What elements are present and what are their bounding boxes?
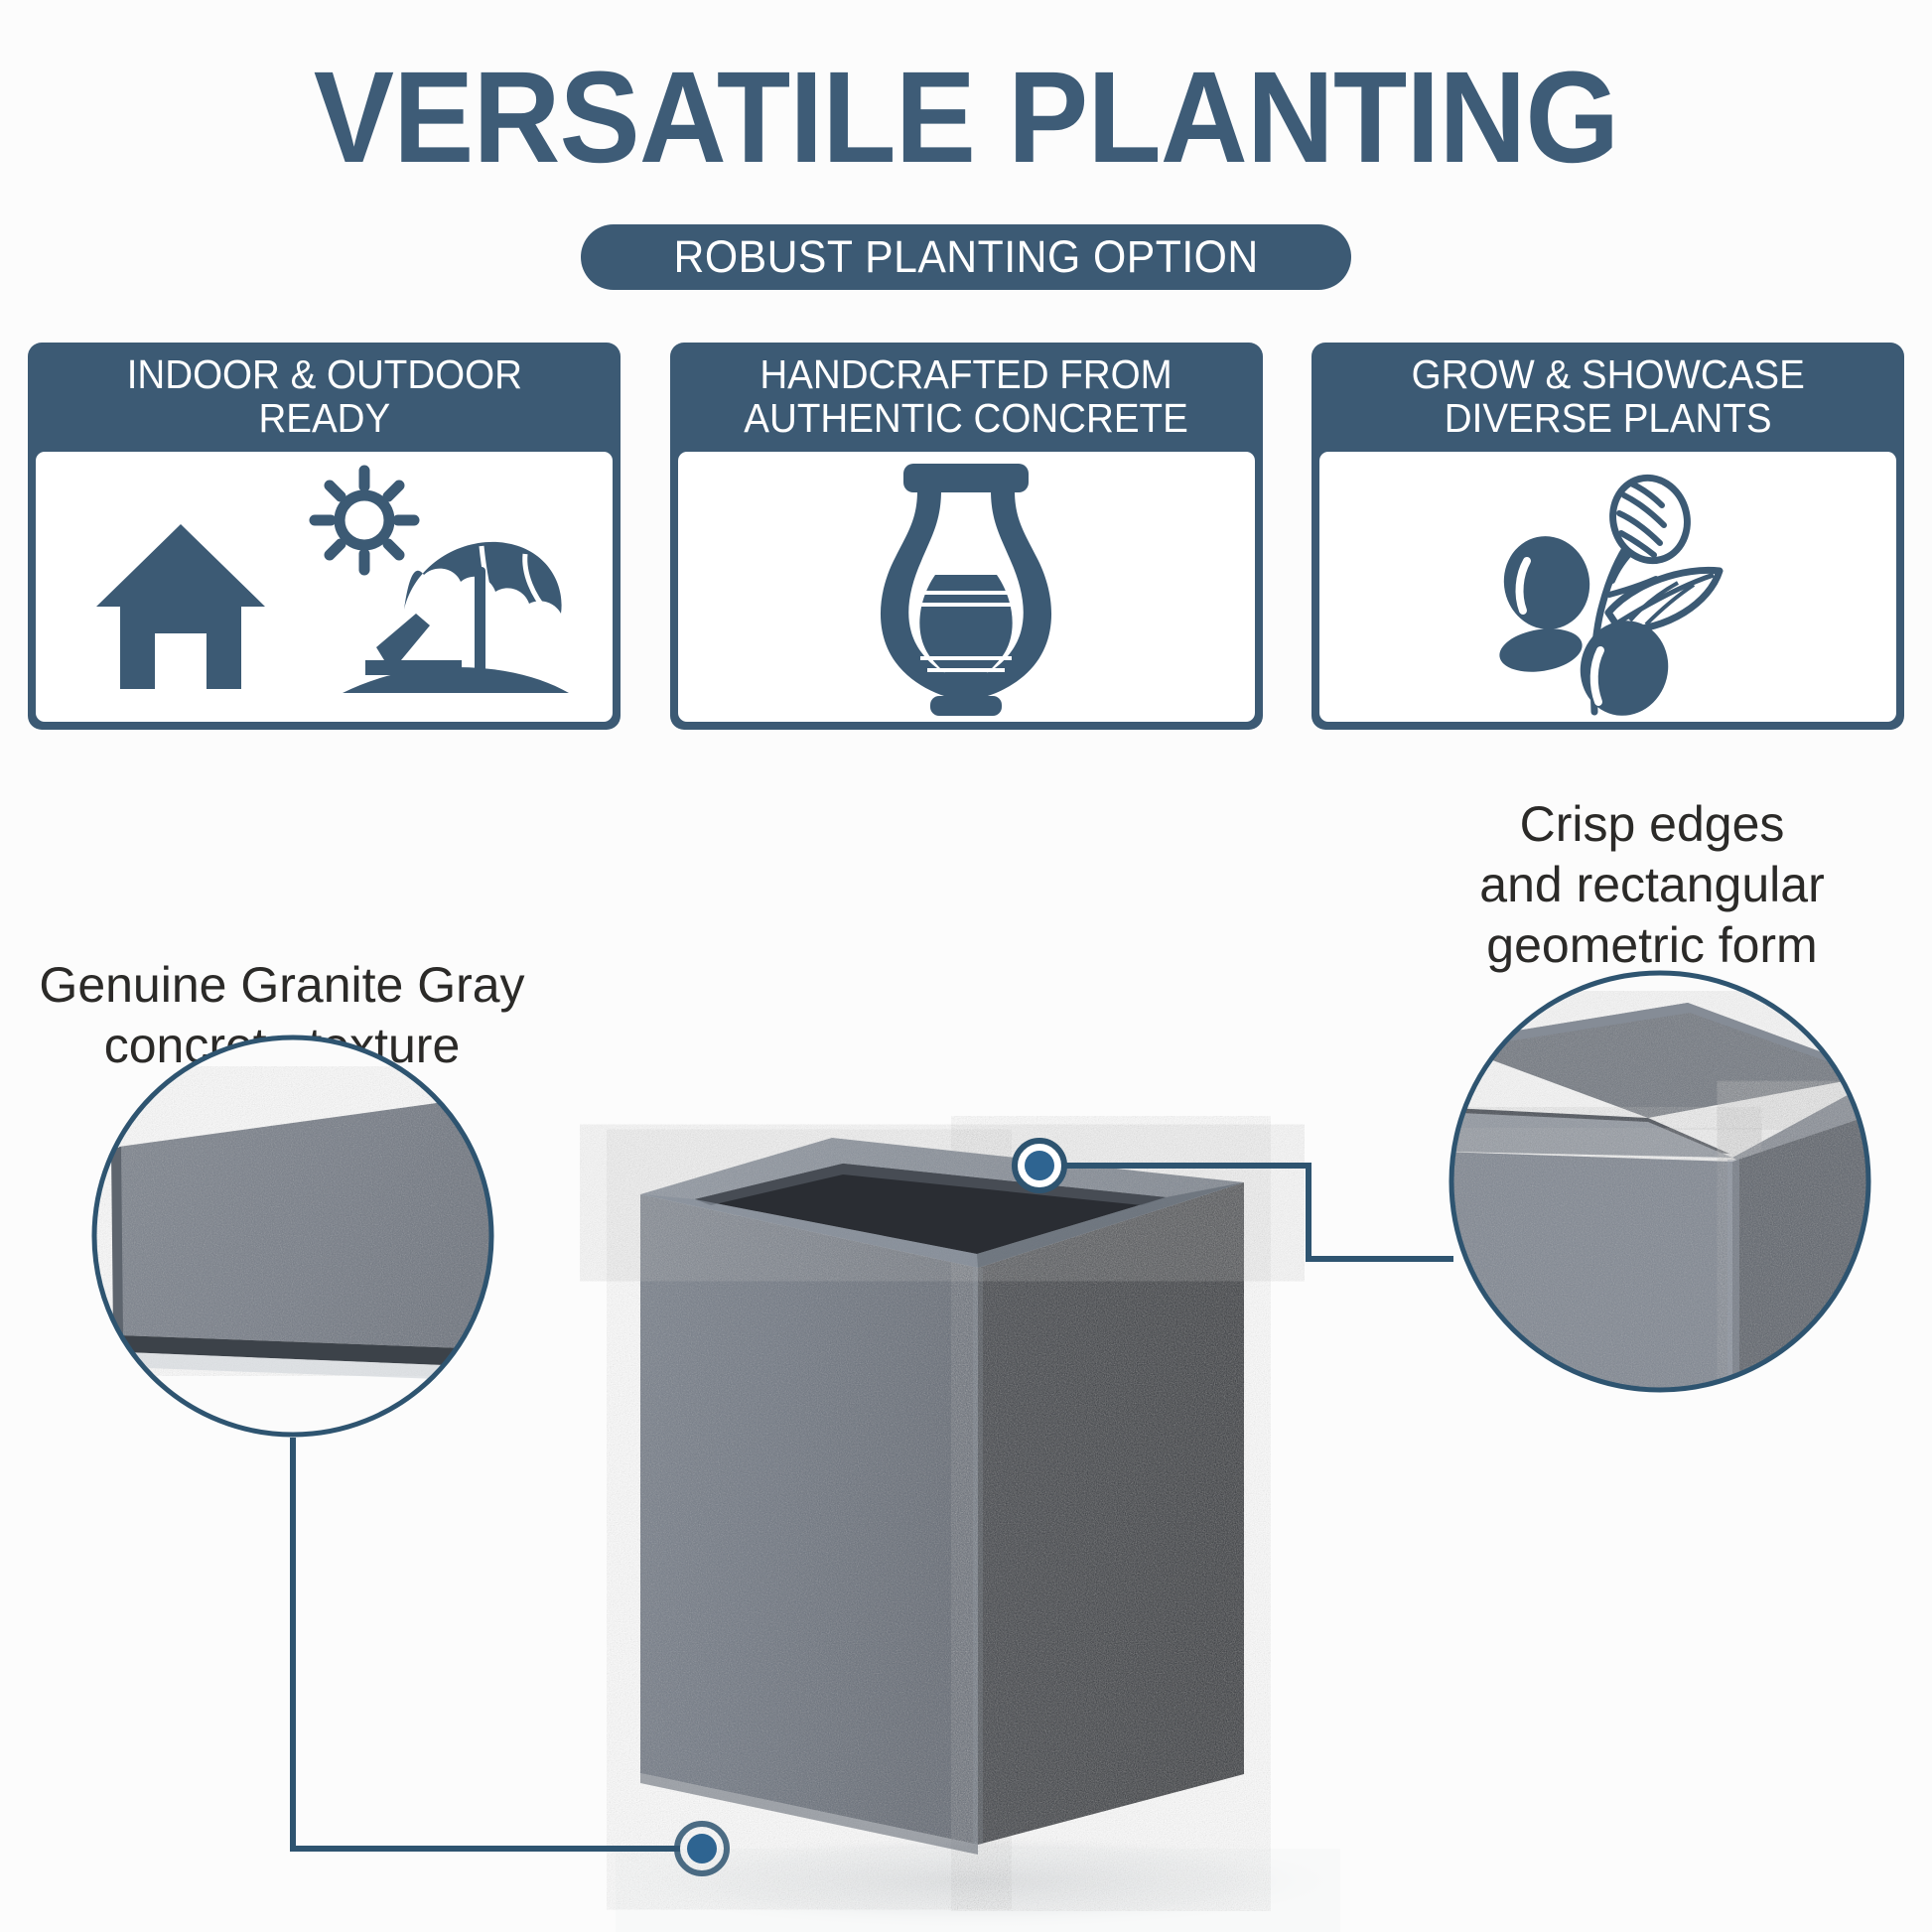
planter-side-face bbox=[978, 1182, 1244, 1845]
planter-front-face bbox=[640, 1194, 978, 1845]
planter-corner-highlight bbox=[973, 1268, 983, 1845]
detail-circle-texture bbox=[94, 1037, 516, 1435]
product-planter bbox=[640, 1138, 1244, 1855]
connector-dot-edges bbox=[1015, 1141, 1064, 1190]
product-scene bbox=[0, 0, 1932, 1932]
texture-slab-side bbox=[111, 1147, 123, 1335]
rim-wall-left bbox=[1440, 1152, 1732, 1390]
detail-circle-edges bbox=[1440, 973, 1886, 1390]
infographic-canvas: VERSATILE PLANTING ROBUST PLANTING OPTIO… bbox=[0, 0, 1932, 1932]
connector-line-texture bbox=[293, 1438, 680, 1849]
rim-corner-edge bbox=[1727, 1160, 1739, 1390]
